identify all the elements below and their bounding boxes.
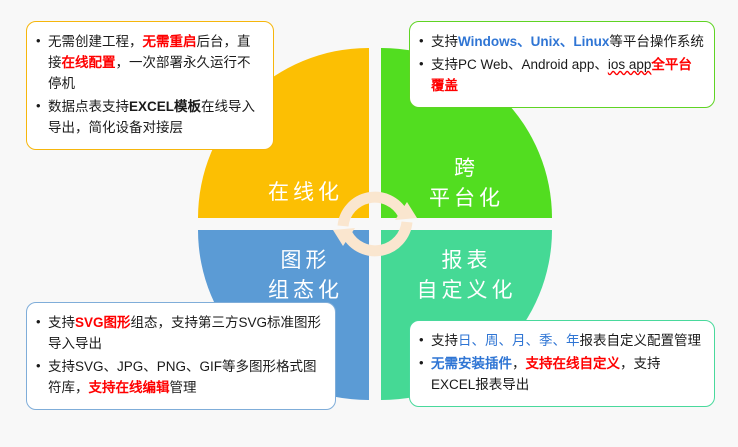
feature-text-run: ，: [512, 356, 526, 371]
feature-text-run: EXCEL模板: [129, 99, 201, 114]
quadrant-reports-label: 报表 自定义化: [381, 246, 566, 306]
feature-text-run: Windows、Unix、Linux: [458, 34, 609, 49]
online-features-list: 无需创建工程，无需重启后台，直接在线配置，一次部署永久运行不停机数据点表支持EX…: [35, 31, 263, 138]
feature-text-run: 支持在线自定义: [526, 356, 621, 371]
graphics-features-callout: 支持SVG图形组态，支持第三方SVG标准图形导入导出支持SVG、JPG、PNG、…: [26, 302, 336, 410]
feature-text-run: 支持: [48, 315, 75, 330]
feature-list-item: 支持SVG、JPG、PNG、GIF等多图形格式图符库，支持在线编辑管理: [35, 356, 325, 398]
feature-text-run: 等平台操作系统: [609, 34, 704, 49]
feature-list-item: 数据点表支持EXCEL模板在线导入导出，简化设备对接层: [35, 96, 263, 138]
feature-list-item: 无需安装插件，支持在线自定义，支持EXCEL报表导出: [418, 353, 704, 395]
feature-text-run: ios app: [608, 57, 652, 72]
report-features-list: 支持日、周、月、季、年报表自定义配置管理无需安装插件，支持在线自定义，支持EXC…: [418, 330, 704, 395]
feature-list-item: 支持PC Web、Android app、ios app全平台覆盖: [418, 54, 704, 96]
feature-text-run: 支持PC Web、Android app、: [431, 57, 608, 72]
feature-list-item: 支持Windows、Unix、Linux等平台操作系统: [418, 31, 704, 52]
quadrant-graphics-label: 图形 组态化: [198, 246, 391, 306]
feature-text-run: 管理: [170, 380, 197, 395]
feature-list-item: 支持SVG图形组态，支持第三方SVG标准图形导入导出: [35, 312, 325, 354]
quadrant-cross-platform-label: 跨 平台化: [381, 154, 566, 214]
feature-text-run: 支持在线编辑: [89, 380, 170, 395]
feature-text-run: 在线配置: [62, 55, 116, 70]
infographic-canvas: 在线化 跨 平台化 图形 组态化 报表 自定义化 无需创建工程，无需重启后台，直…: [0, 0, 738, 447]
feature-text-run: 支持: [431, 333, 458, 348]
feature-text-run: 无需重启: [143, 34, 197, 49]
report-features-callout: 支持日、周、月、季、年报表自定义配置管理无需安装插件，支持在线自定义，支持EXC…: [409, 320, 715, 407]
feature-text-run: 无需创建工程，: [48, 34, 143, 49]
cross-platform-features-callout: 支持Windows、Unix、Linux等平台操作系统支持PC Web、Andr…: [409, 21, 715, 108]
online-features-callout: 无需创建工程，无需重启后台，直接在线配置，一次部署永久运行不停机数据点表支持EX…: [26, 21, 274, 150]
feature-text-run: 无需安装插件: [431, 356, 512, 371]
feature-list-item: 支持日、周、月、季、年报表自定义配置管理: [418, 330, 704, 351]
cross-platform-features-list: 支持Windows、Unix、Linux等平台操作系统支持PC Web、Andr…: [418, 31, 704, 96]
feature-list-item: 无需创建工程，无需重启后台，直接在线配置，一次部署永久运行不停机: [35, 31, 263, 94]
feature-text-run: 报表自定义配置管理: [580, 333, 702, 348]
feature-text-run: 数据点表支持: [48, 99, 129, 114]
feature-text-run: 日、周、月、季、年: [458, 333, 580, 348]
feature-text-run: 支持: [431, 34, 458, 49]
quadrant-online-label: 在线化: [198, 178, 391, 208]
feature-text-run: SVG图形: [75, 315, 131, 330]
graphics-features-list: 支持SVG图形组态，支持第三方SVG标准图形导入导出支持SVG、JPG、PNG、…: [35, 312, 325, 398]
